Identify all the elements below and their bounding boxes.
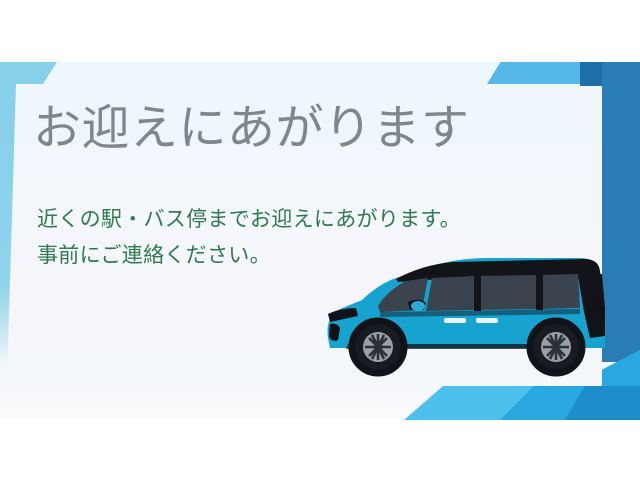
accent-shape-top-left-notch (43, 62, 57, 84)
accent-shape-top-left-block (0, 62, 43, 84)
pickup-service-banner: お迎えにあがります 近くの駅・バス停までお迎えにあがります。 事前にご連絡くださ… (0, 0, 640, 480)
accent-shape-top-right-parallelogram (487, 62, 583, 84)
body-text-line-1: 近くの駅・バス停までお迎えにあがります。 (37, 202, 461, 238)
page-title: お迎えにあがります (33, 99, 470, 159)
minivan-car-illustration (322, 252, 612, 382)
